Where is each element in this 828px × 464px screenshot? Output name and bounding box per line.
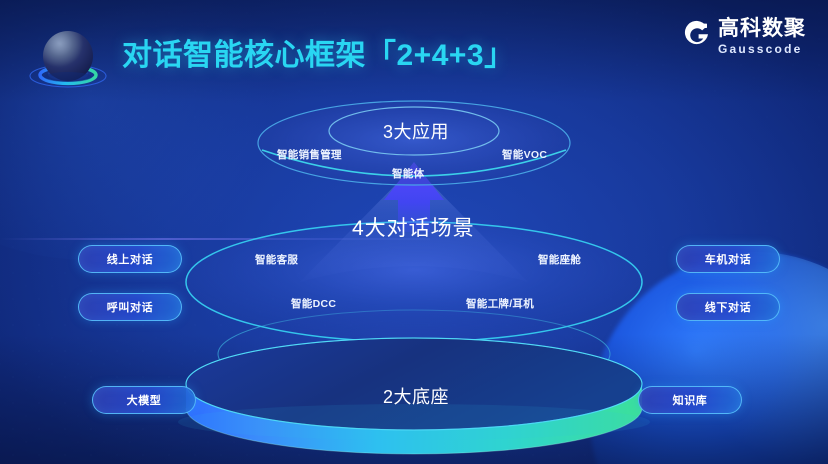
layer-title-applications: 3大应用	[383, 118, 449, 144]
page-title: 对话智能核心框架「2+4+3」	[122, 30, 515, 74]
layer-title-foundation: 2大底座	[383, 383, 449, 409]
scenario-item-customer-service: 智能客服	[255, 252, 298, 267]
gausscode-g-icon	[683, 20, 711, 48]
agent-label: 智能体	[392, 166, 424, 181]
scenario-item-dcc: 智能DCC	[291, 296, 336, 311]
brand-logo: 高科数聚 Gausscode	[683, 18, 806, 55]
tag-in-car-dialogue[interactable]: 车机对话	[676, 245, 780, 273]
sphere-pedestal-icon	[24, 14, 112, 94]
framework-diagram: 3大应用 智能销售管理 智能VOC 智能体 4大对话场景 智能客服 智能座舱 智…	[0, 96, 828, 464]
tag-large-model[interactable]: 大模型	[92, 386, 196, 414]
tag-offline-dialogue[interactable]: 线下对话	[676, 293, 780, 321]
brand-name-cn: 高科数聚	[718, 18, 806, 39]
scenario-item-smart-cockpit: 智能座舱	[538, 252, 581, 267]
layer-title-scenarios: 4大对话场景	[352, 212, 475, 242]
slide-canvas: 对话智能核心框架「2+4+3」 高科数聚 Gausscode	[0, 0, 828, 464]
app-item-voc: 智能VOC	[502, 147, 547, 162]
brand-name-en: Gausscode	[718, 43, 806, 55]
slide-header: 对话智能核心框架「2+4+3」 高科数聚 Gausscode	[0, 0, 828, 104]
app-item-sales-management: 智能销售管理	[277, 147, 342, 162]
tag-knowledge-base[interactable]: 知识库	[638, 386, 742, 414]
tag-call-dialogue[interactable]: 呼叫对话	[78, 293, 182, 321]
tag-online-dialogue[interactable]: 线上对话	[78, 245, 182, 273]
scenario-item-badge-headset: 智能工牌/耳机	[466, 296, 534, 311]
